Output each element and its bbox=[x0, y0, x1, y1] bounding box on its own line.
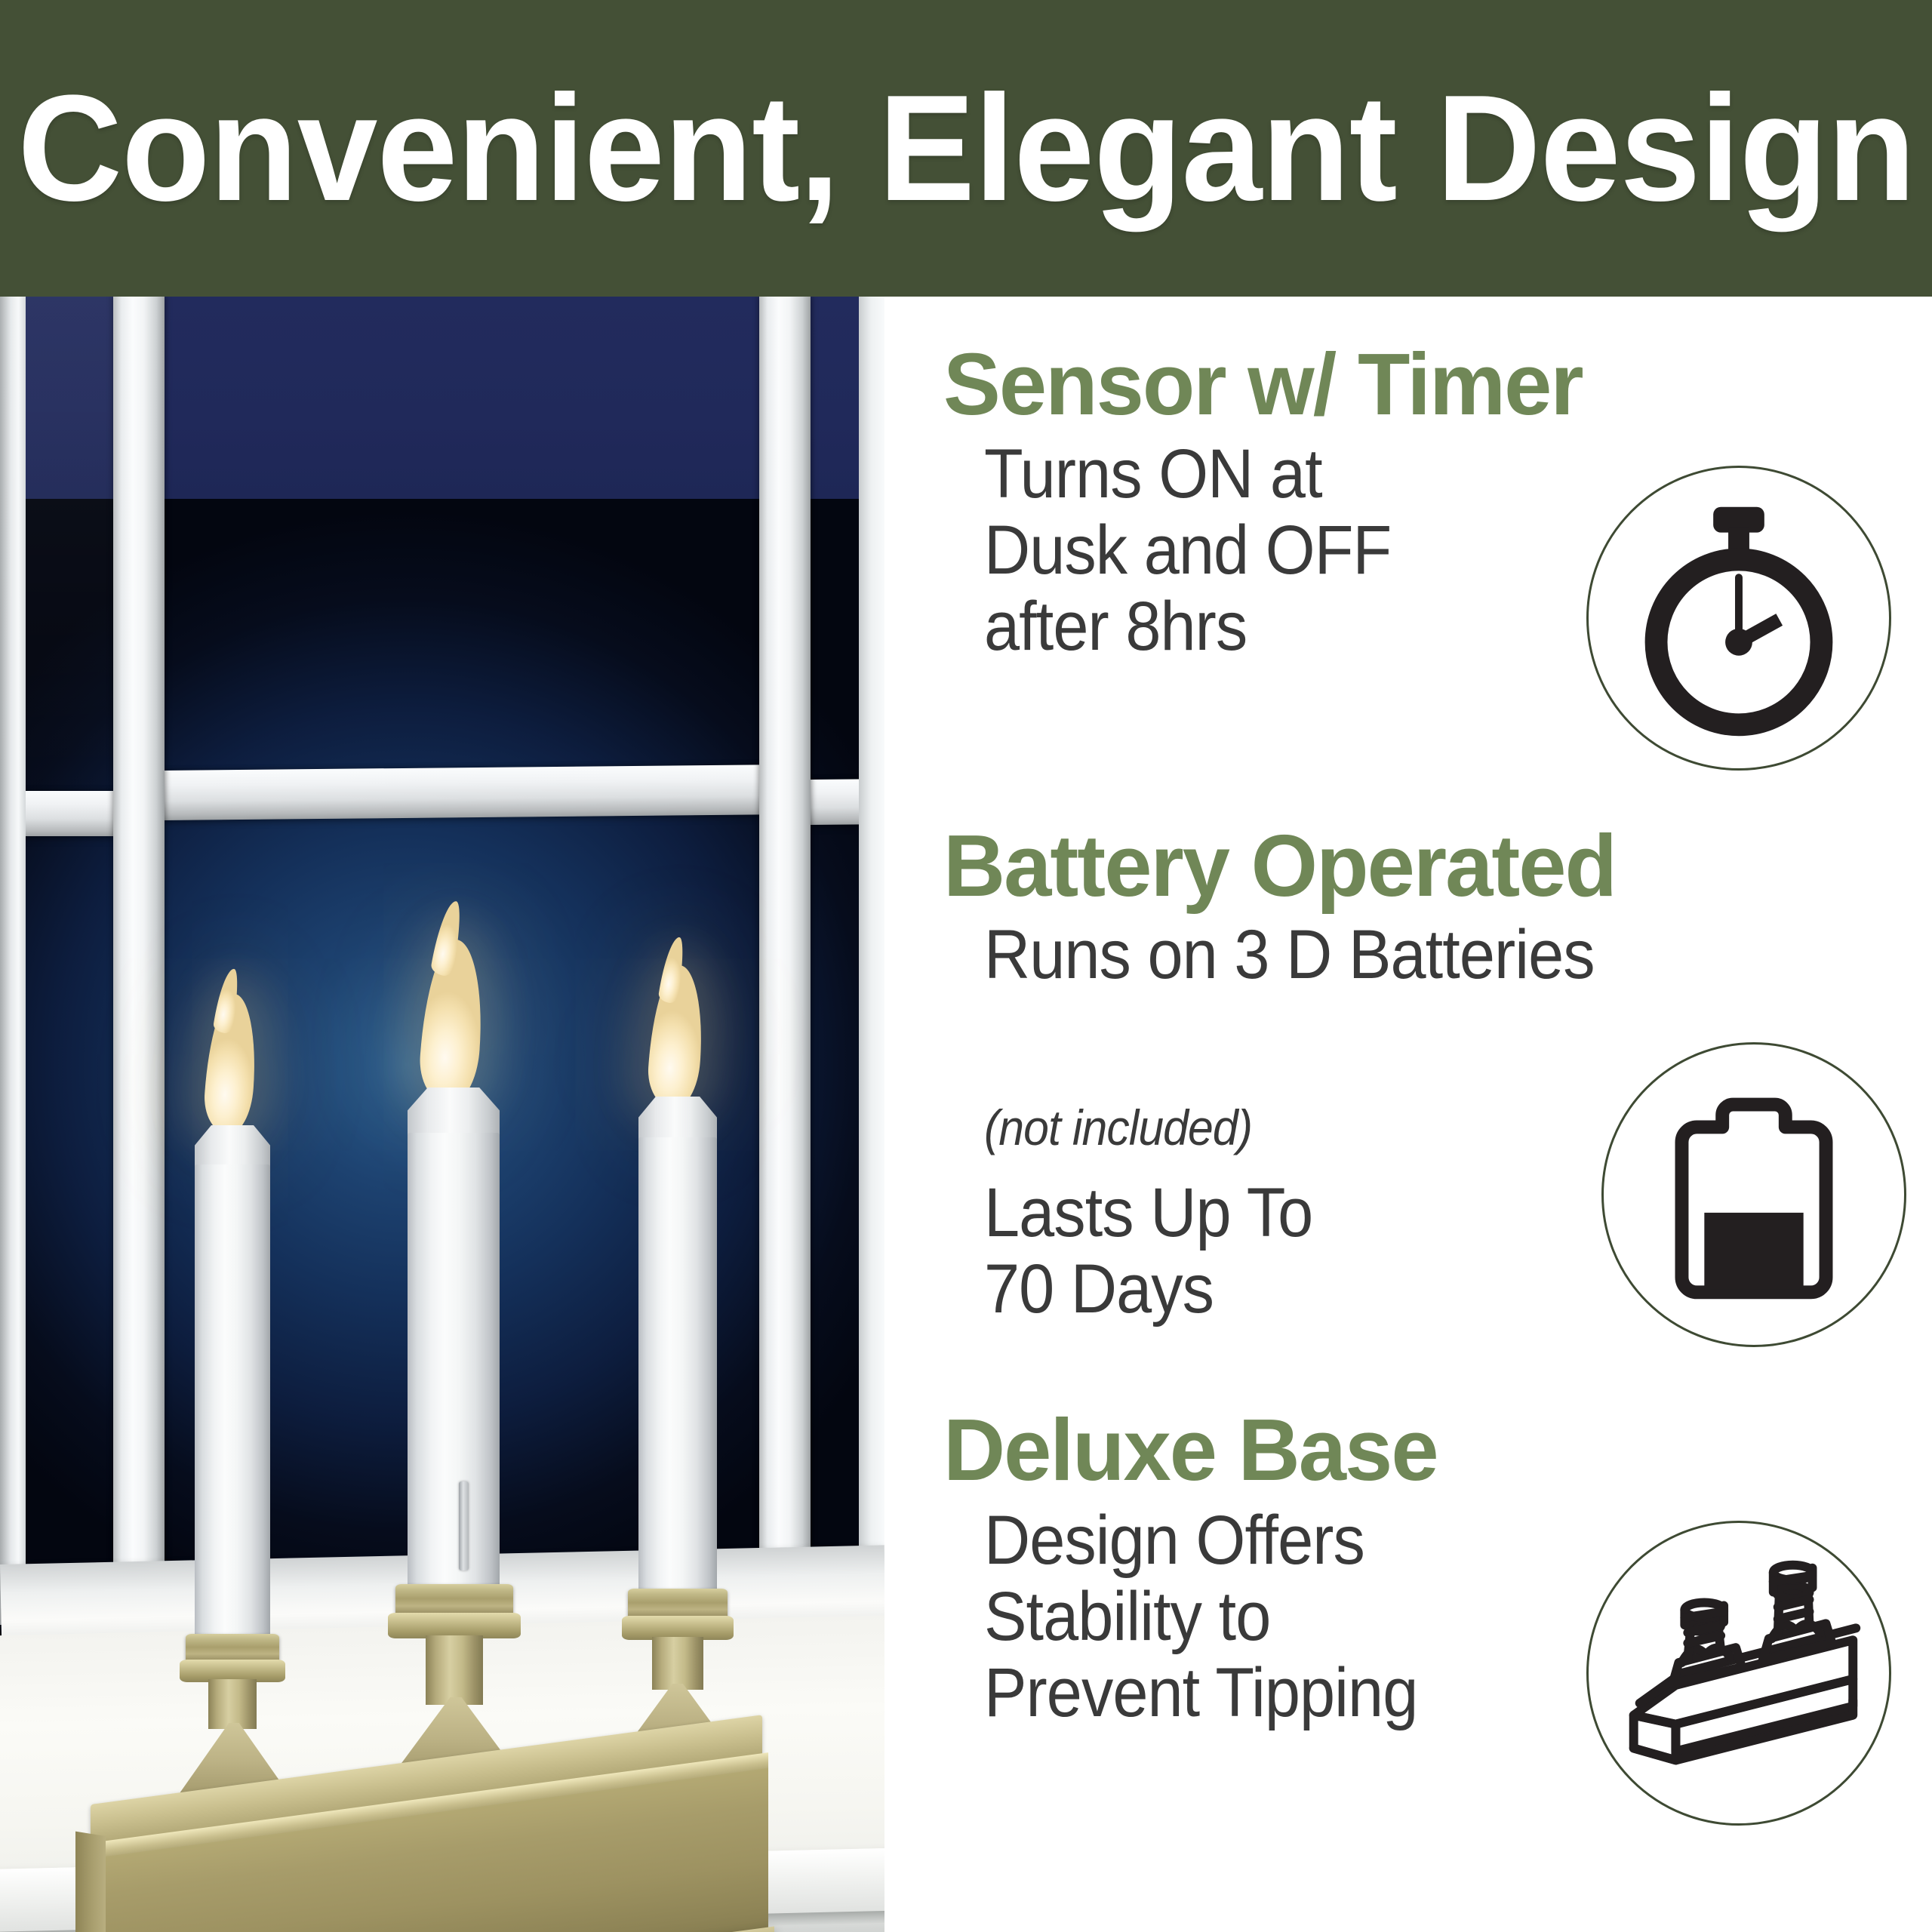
feature-heading-deluxe-base: Deluxe Base bbox=[943, 1406, 1438, 1494]
candle-body-right bbox=[638, 1137, 717, 1596]
candle-shoulder-left bbox=[195, 1125, 270, 1169]
feature-body-line: Runs on 3 D Batteries bbox=[984, 917, 1595, 993]
feature-body-deluxe-base: Design Offers Stability to Prevent Tippi… bbox=[984, 1503, 1417, 1732]
candle-base-icon-circle bbox=[1586, 1521, 1891, 1826]
infographic-page: Convenient, Elegant Design bbox=[0, 0, 1932, 1932]
feature-body-sensor-timer: Turns ON at Dusk and OFF after 8hrs bbox=[984, 436, 1391, 666]
battery-icon-circle bbox=[1601, 1042, 1906, 1347]
product-photo bbox=[0, 297, 884, 1932]
feature-panel: Sensor w/ Timer Turns ON at Dusk and OFF… bbox=[884, 297, 1932, 1932]
brass-stem-center bbox=[426, 1635, 483, 1705]
page-title: Convenient, Elegant Design bbox=[17, 73, 1915, 224]
feature-body2-battery-operated: Lasts Up To 70 Days bbox=[984, 1175, 1312, 1327]
candle-body-left bbox=[195, 1164, 270, 1640]
brass-stem-left bbox=[208, 1679, 257, 1729]
feature-body-line: Prevent Tipping bbox=[984, 1655, 1417, 1731]
feature-body-line: Dusk and OFF bbox=[984, 512, 1391, 589]
header-banner: Convenient, Elegant Design bbox=[0, 0, 1932, 297]
feature-subnote-battery: (not included) bbox=[984, 1099, 1252, 1156]
feature-body-line: 70 Days bbox=[984, 1251, 1312, 1327]
candle-power-switch[interactable] bbox=[459, 1481, 469, 1571]
feature-body-line: Turns ON at bbox=[984, 436, 1391, 512]
battery-half-icon bbox=[1604, 1044, 1904, 1345]
brass-stem-right bbox=[652, 1637, 703, 1690]
photo-clip bbox=[0, 297, 884, 1932]
base-plinth-side bbox=[75, 1832, 106, 1932]
candle-shoulder-right bbox=[638, 1097, 717, 1142]
candle-shoulder-center bbox=[408, 1088, 500, 1137]
feature-body-line: after 8hrs bbox=[984, 589, 1391, 665]
feature-body-line: Stability to bbox=[984, 1579, 1417, 1655]
feature-body-battery-operated: Runs on 3 D Batteries bbox=[984, 917, 1595, 993]
feature-body-line: Lasts Up To bbox=[984, 1175, 1312, 1251]
feature-heading-battery-operated: Battery Operated bbox=[943, 822, 1616, 909]
candle-body-center bbox=[408, 1133, 500, 1593]
stopwatch-icon bbox=[1589, 468, 1889, 768]
candle-set bbox=[0, 297, 884, 1932]
stopwatch-icon-circle bbox=[1586, 466, 1891, 771]
brass-ring-center bbox=[388, 1613, 521, 1638]
feature-body-line: Design Offers bbox=[984, 1503, 1417, 1579]
candle-base-icon bbox=[1589, 1523, 1889, 1823]
feature-heading-sensor-timer: Sensor w/ Timer bbox=[943, 340, 1583, 428]
